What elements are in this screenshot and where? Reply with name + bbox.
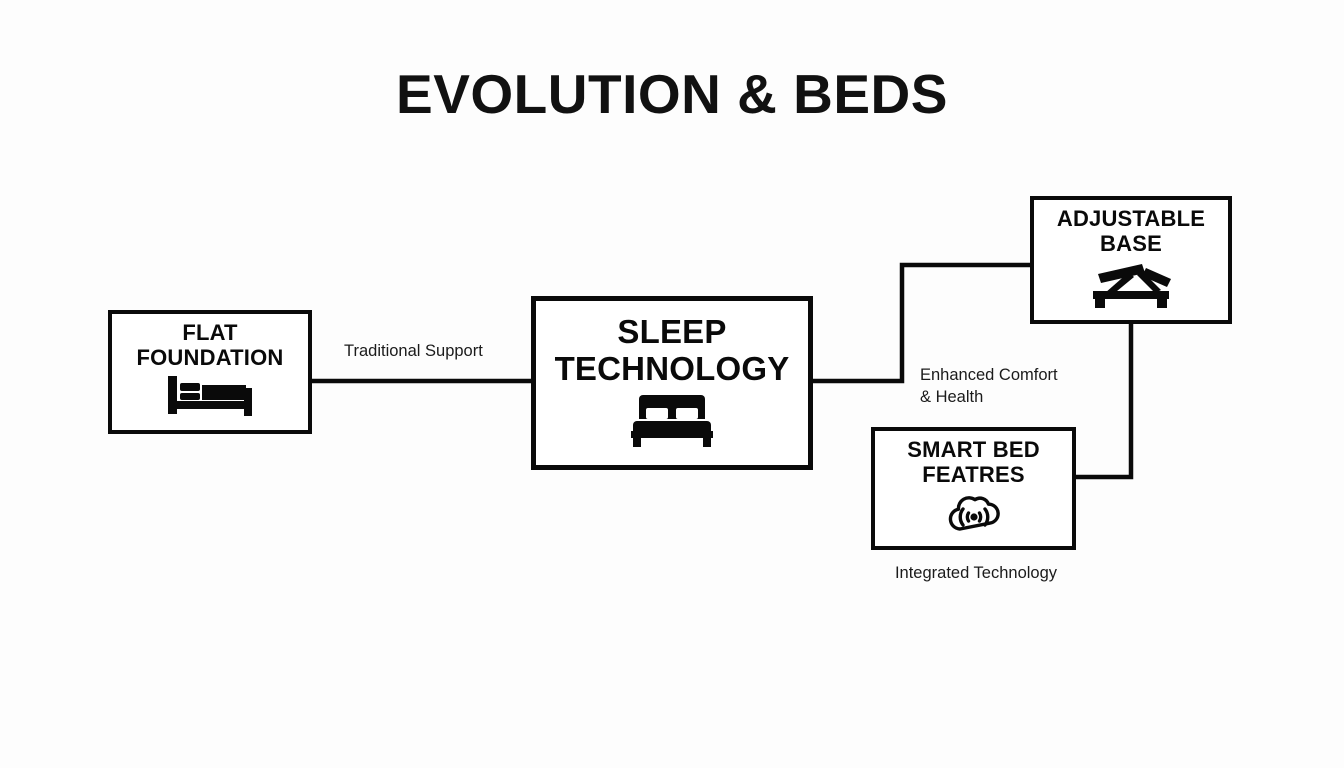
- cloud-wifi-icon: [945, 492, 1003, 539]
- adjustable-bed-frame-icon: [1083, 262, 1179, 313]
- node-sleep-technology[interactable]: SLEEP TECHNOLOGY: [531, 296, 813, 470]
- node-adjustable-base-label: ADJUSTABLE BASE: [1057, 207, 1205, 256]
- node-adjustable-base[interactable]: ADJUSTABLE BASE: [1030, 196, 1232, 324]
- edge-label-integrated-technology: Integrated Technology: [862, 562, 1090, 584]
- node-flat-foundation[interactable]: FLAT FOUNDATION: [108, 310, 312, 434]
- node-sleep-technology-label: SLEEP TECHNOLOGY: [555, 314, 790, 388]
- node-smart-bed[interactable]: SMART BED FEATRES: [871, 427, 1076, 550]
- double-bed-icon: [629, 395, 715, 452]
- flat-bed-icon: [164, 376, 256, 423]
- edge-label-enhanced-comfort: Enhanced Comfort & Health: [920, 364, 1100, 409]
- diagram-canvas: EVOLUTION & BEDS FLAT FOUNDATION: [0, 0, 1344, 768]
- edge-label-traditional-support: Traditional Support: [344, 340, 524, 362]
- node-smart-bed-label: SMART BED FEATRES: [907, 438, 1040, 487]
- node-flat-foundation-label: FLAT FOUNDATION: [136, 321, 283, 370]
